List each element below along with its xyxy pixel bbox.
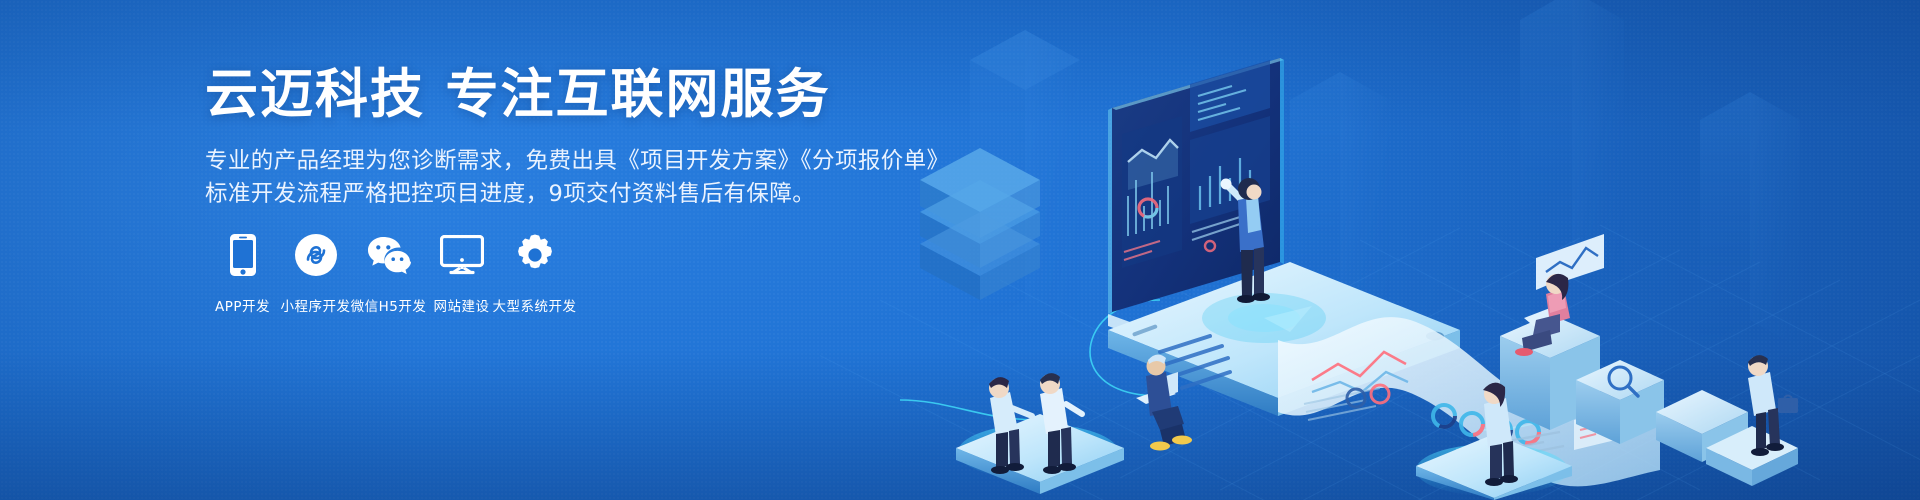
service-label: APP开发 [215, 295, 270, 315]
hero-subtitle: 专业的产品经理为您诊断需求，免费出具《项目开发方案》《分项报价单》 标准开发流程… [205, 145, 1105, 211]
page-title: 云迈科技 专注互联网服务 [205, 64, 1105, 125]
service-item-wechat-h5[interactable]: 微信H5开发 [352, 232, 425, 315]
wechat-icon [366, 232, 412, 278]
subtitle-line-2: 标准开发流程严格把控项目进度，9项交付资料售后有保障。 [205, 178, 1105, 211]
service-item-app[interactable]: APP开发 [206, 232, 279, 315]
service-label: 大型系统开发 [493, 295, 577, 315]
service-item-large-system[interactable]: 大型系统开发 [498, 232, 571, 315]
gear-icon [512, 232, 558, 278]
subtitle-line-1: 专业的产品经理为您诊断需求，免费出具《项目开发方案》《分项报价单》 [205, 145, 1105, 178]
service-item-website[interactable]: 网站建设 [425, 232, 498, 315]
service-label: 小程序开发 [281, 295, 351, 315]
monitor-icon [439, 232, 485, 278]
person-with-briefcase [1656, 355, 1798, 486]
mini-program-icon [293, 232, 339, 278]
hero-copy: 云迈科技 专注互联网服务 专业的产品经理为您诊断需求，免费出具《项目开发方案》《… [205, 64, 1105, 211]
service-label: 微信H5开发 [351, 295, 427, 315]
service-list: APP开发 小程序开发 [206, 232, 571, 315]
hero-banner: 云迈科技 专注互联网服务 专业的产品经理为您诊断需求，免费出具《项目开发方案》《… [0, 0, 1920, 500]
mobile-phone-icon [220, 232, 266, 278]
service-item-miniprogram[interactable]: 小程序开发 [279, 232, 352, 315]
two-people-conversing [956, 373, 1124, 494]
service-label: 网站建设 [434, 295, 490, 315]
